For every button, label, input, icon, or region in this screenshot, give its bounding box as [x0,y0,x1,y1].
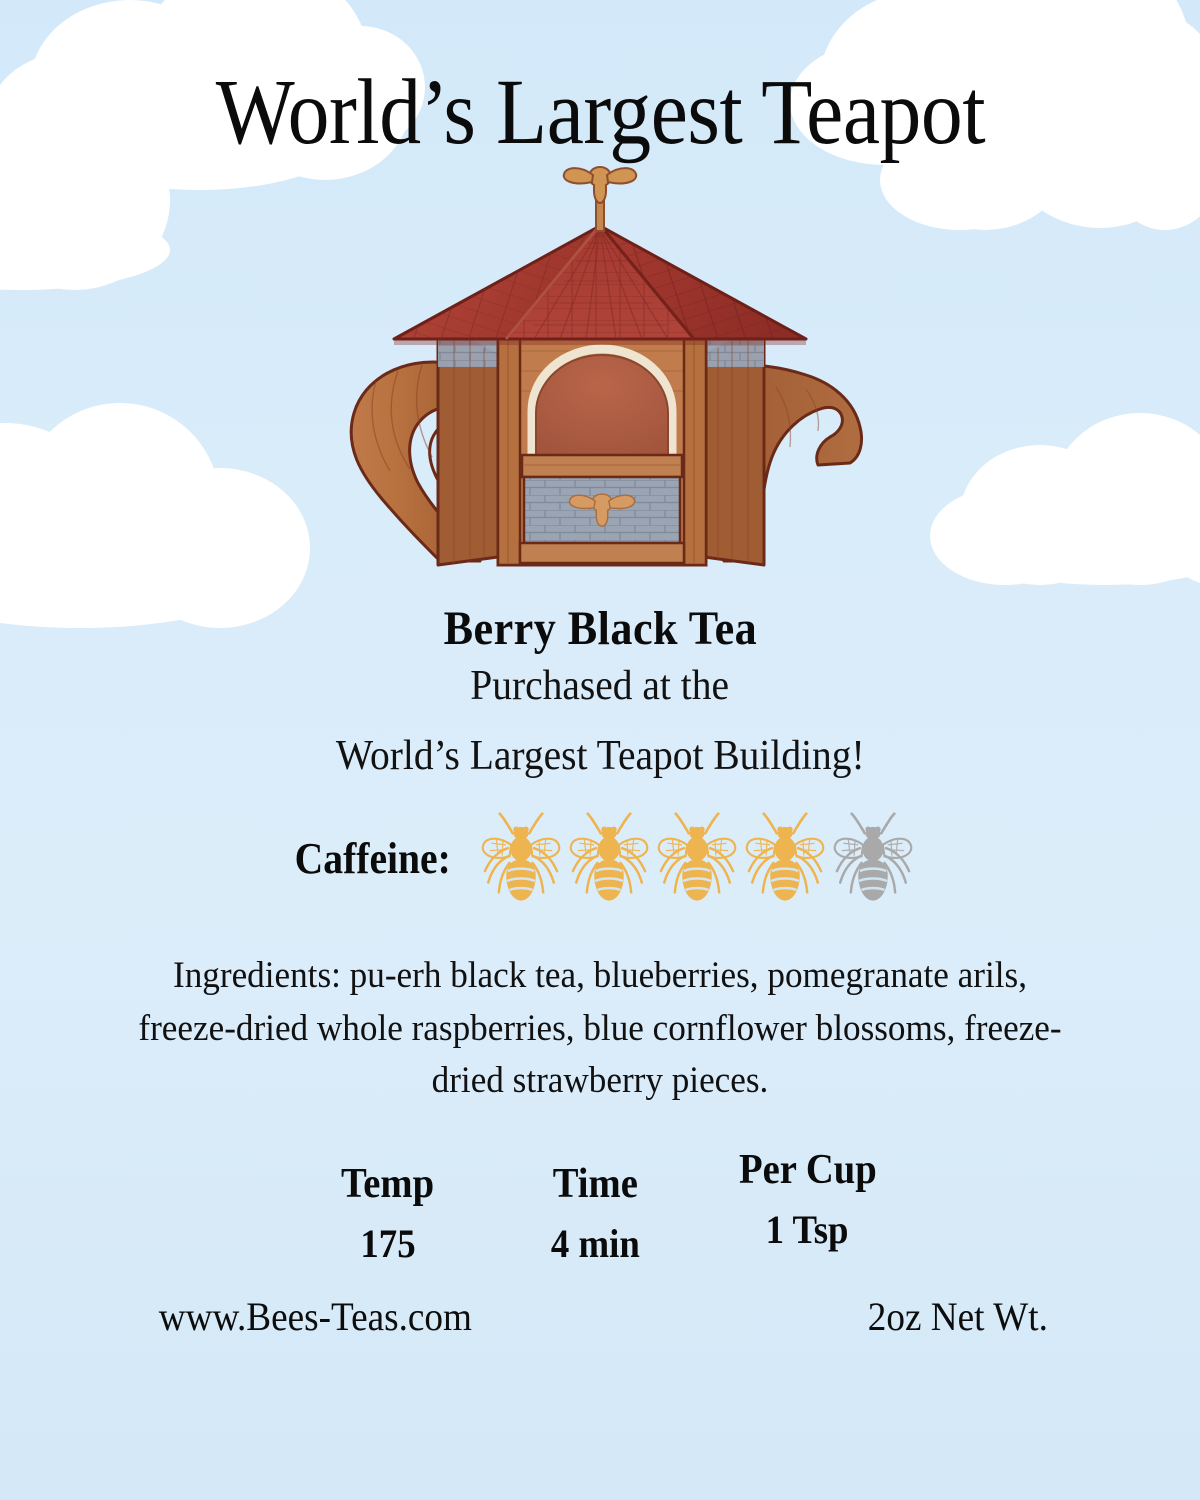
teapot-roof [394,225,806,345]
bee-rating-icons [480,812,914,904]
venue-line: World’s Largest Teapot Building! [336,732,865,780]
purchased-line: Purchased at the [471,662,730,710]
page-title: World’s Largest Teapot [215,66,984,159]
brew-value-time: 4 min [551,1220,640,1267]
bee-icon [656,812,738,904]
tea-label-card: World’s Largest Teapot [0,0,1200,1500]
caffeine-rating-row: Caffeine: [0,812,1200,904]
net-weight-text: 2oz Net Wt. [868,1293,1048,1340]
brew-header-temp: Temp [341,1160,434,1208]
brew-header-per-cup: Per Cup [739,1146,877,1194]
brew-column-per-cup: Per Cup 1 Tsp [695,1146,920,1253]
brew-column-temp: Temp 175 [280,1146,495,1267]
label-footer: www.Bees-Teas.com 2oz Net Wt. [95,1293,1105,1340]
brew-header-time: Time [552,1160,637,1208]
bee-finial-icon [564,167,636,231]
brew-value-per-cup: 1 Tsp [766,1206,849,1253]
brew-column-time: Time 4 min [495,1146,695,1267]
bee-icon [480,812,562,904]
brew-value-temp: 175 [360,1220,415,1267]
product-name: Berry Black Tea [443,601,757,656]
teapot-center-face [498,333,706,565]
caffeine-label: Caffeine: [295,833,451,884]
bee-icon [744,812,826,904]
website-text[interactable]: www.Bees-Teas.com [159,1293,472,1340]
bee-icon [832,812,914,904]
bee-icon [568,812,650,904]
ingredients-text: Ingredients: pu-erh black tea, blueberri… [125,950,1075,1108]
brewing-instructions-table: Temp 175 Time 4 min Per Cup 1 Tsp [280,1146,920,1267]
teapot-building-illustration [320,165,880,585]
